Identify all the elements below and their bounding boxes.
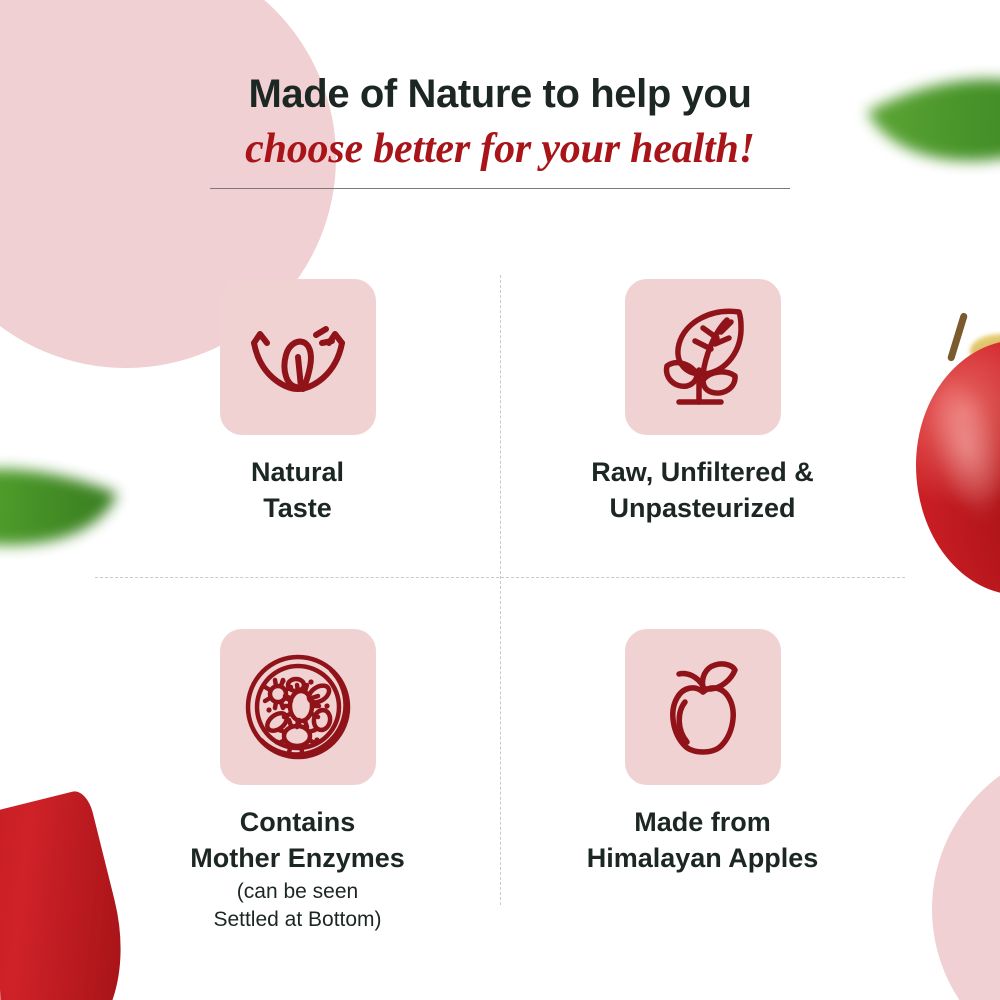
pink-circle-bottom-right-decoration [932, 744, 1000, 1000]
petri-dish-microbes-icon [245, 654, 351, 760]
feature-cell-raw-unfiltered: Raw, Unfiltered & Unpasteurized [500, 279, 905, 526]
headline-line-1: Made of Nature to help you [0, 72, 1000, 117]
feature-grid: Natural Taste [95, 275, 905, 905]
grid-horizontal-divider [95, 577, 905, 579]
headline-line-2: choose better for your health! [0, 125, 1000, 175]
feature-label: Made from Himalayan Apples [500, 805, 905, 876]
feature-icon-tile [220, 279, 376, 435]
feature-cell-himalayan-apples: Made from Himalayan Apples [500, 629, 905, 876]
feature-cell-natural-taste: Natural Taste [95, 279, 500, 526]
promo-graphic: Made of Nature to help you choose better… [0, 0, 1000, 1000]
feature-cell-mother-enzymes: Contains Mother Enzymes (can be seen Set… [95, 629, 500, 933]
tongue-taste-icon [246, 313, 350, 401]
feature-icon-tile [625, 629, 781, 785]
feature-label: Raw, Unfiltered & Unpasteurized [500, 455, 905, 526]
leaf-plant-icon [653, 304, 753, 410]
feature-icon-tile [220, 629, 376, 785]
feature-label: Natural Taste [95, 455, 500, 526]
feature-label: Contains Mother Enzymes [95, 805, 500, 876]
headline-underline [210, 188, 790, 189]
headline-block: Made of Nature to help you choose better… [0, 72, 1000, 189]
feature-icon-tile [625, 279, 781, 435]
apple-icon [653, 654, 753, 760]
red-apple-right-photo [898, 300, 1000, 600]
feature-subnote: (can be seen Settled at Bottom) [95, 878, 500, 933]
